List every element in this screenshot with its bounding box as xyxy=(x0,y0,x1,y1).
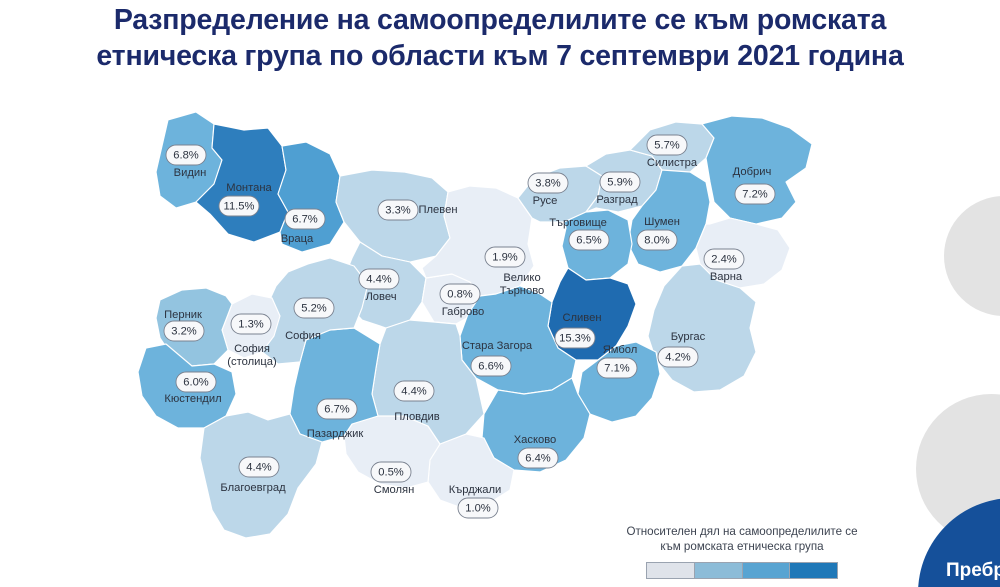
province-name-label: Габрово xyxy=(442,306,485,318)
legend-caption-line-2: към ромската етническа група xyxy=(606,539,878,554)
province-name-label: Пловдив xyxy=(394,411,440,423)
province-name-label: Кърджали xyxy=(449,484,502,496)
province-name-label: Благоевград xyxy=(220,482,286,494)
province-name-label: Ловеч xyxy=(365,291,396,303)
province-name-label: Бургас xyxy=(671,331,706,343)
province-name-label: ВеликоТърново xyxy=(500,272,545,297)
province-name-label: София xyxy=(285,330,321,342)
province-name-label: Сливен xyxy=(562,312,601,324)
province-value-text: 4.4% xyxy=(401,385,427,397)
page-title: Разпределение на самоопределилите се към… xyxy=(0,2,1000,74)
province-value-text: 6.4% xyxy=(525,452,551,464)
province-value-text: 1.0% xyxy=(465,502,491,514)
province-name-label: Пазарджик xyxy=(307,428,364,440)
province-name-label: Силистра xyxy=(647,157,698,169)
province-name-label: Шумен xyxy=(644,216,680,228)
province-value-text: 6.0% xyxy=(183,376,209,388)
province-value-text: 6.5% xyxy=(576,234,602,246)
province-value-text: 2.4% xyxy=(711,253,737,265)
province-value-text: 1.3% xyxy=(238,318,264,330)
province-name-label: Монтана xyxy=(226,182,272,194)
province-name-label: Търговище xyxy=(549,217,607,229)
province-value-text: 1.9% xyxy=(492,251,518,263)
province-name-label: Видин xyxy=(174,167,207,179)
province-value-text: 0.5% xyxy=(378,466,404,478)
province-value-text: 5.7% xyxy=(654,139,680,151)
bulgaria-map-svg: Видин6.8%Монтана11.5%Враца6.7%Плевен3.3%… xyxy=(0,72,1000,542)
province-name-label: Стара Загора xyxy=(462,340,533,352)
province-value-text: 6.8% xyxy=(173,149,199,161)
province-value-text: 6.7% xyxy=(324,403,350,415)
province-name-label: Враца xyxy=(281,233,314,245)
province-name-label: Перник xyxy=(164,309,202,321)
slide-root: { "title": { "line1": "Разпределение на … xyxy=(0,0,1000,587)
choropleth-map: Видин6.8%Монтана11.5%Враца6.7%Плевен3.3%… xyxy=(0,72,1000,542)
title-line-2: етническа група по области към 7 септемв… xyxy=(0,38,1000,74)
legend-swatch-2 xyxy=(694,563,742,578)
province-value-text: 5.2% xyxy=(301,302,327,314)
province-value-text: 0.8% xyxy=(447,288,473,300)
province-name-label: Плевен xyxy=(418,204,457,216)
province-value-text: 7.2% xyxy=(742,188,768,200)
title-line-1: Разпределение на самоопределилите се към… xyxy=(0,2,1000,38)
province-value-text: 3.8% xyxy=(535,177,561,189)
province-name-label: Разград xyxy=(596,194,638,206)
map-legend: Относителен дял на самоопределилите се к… xyxy=(606,524,878,579)
legend-swatch-1 xyxy=(647,563,694,578)
province-value-text: 5.9% xyxy=(607,176,633,188)
province-value-text: 7.1% xyxy=(604,362,630,374)
province-value-text: 11.5% xyxy=(224,200,255,212)
province-value-text: 4.4% xyxy=(366,273,392,285)
province-name-label: Варна xyxy=(710,271,743,283)
province-value-text: 3.2% xyxy=(171,325,197,337)
legend-swatch-3 xyxy=(742,563,790,578)
province-name-label: София(столица) xyxy=(227,343,277,368)
province-value-text: 6.6% xyxy=(478,360,504,372)
legend-caption-line-1: Относителен дял на самоопределилите се xyxy=(606,524,878,539)
province-value-text: 3.3% xyxy=(385,204,411,216)
legend-swatch-strip xyxy=(646,562,838,579)
province-name-label: Русе xyxy=(533,195,558,207)
province-value-text: 4.4% xyxy=(246,461,272,473)
province-value-text: 4.2% xyxy=(665,351,691,363)
province-value-text: 15.3% xyxy=(559,332,591,344)
province-name-label: Добрич xyxy=(733,166,772,178)
province-value-text: 8.0% xyxy=(644,234,670,246)
province-name-label: Смолян xyxy=(374,484,415,496)
legend-swatch-4 xyxy=(789,563,837,578)
province-name-label: Кюстендил xyxy=(164,393,221,405)
brand-label: Преброя xyxy=(946,560,1000,582)
province-value-text: 6.7% xyxy=(292,213,318,225)
province-name-label: Хасково xyxy=(514,434,557,446)
province-name-label: Ямбол xyxy=(603,344,638,356)
